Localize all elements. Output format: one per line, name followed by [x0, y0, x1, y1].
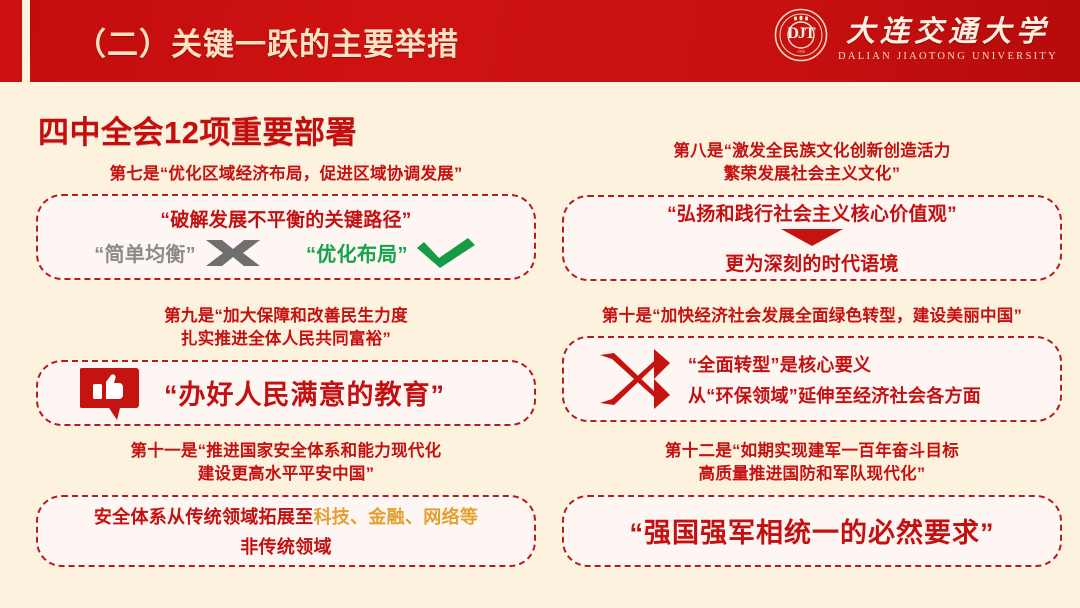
- item-eight-line2: 更为深刻的时代语境: [725, 249, 899, 276]
- item-seven-right-label: “优化布局”: [306, 238, 408, 267]
- item-twelve: 第十二是“如期实现建军一百年奋斗目标 高质量推进国防和军队现代化” “强国强军相…: [562, 440, 1062, 567]
- section-title: 四中全会12项重要部署: [38, 107, 357, 152]
- item-ten: 第十是“加快经济社会发展全面绿色转型，建设美丽中国” “全面转型”是核心要义 从…: [562, 305, 1062, 422]
- item-eleven-lead: 第十一是“推进国家安全体系和能力现代化 建设更高水平平安中国”: [36, 440, 536, 487]
- item-nine: 第九是“加大保障和改善民生力度 扎实推进全体人民共同富裕” “办好人民满意的教育…: [36, 305, 536, 426]
- item-ten-lead: 第十是“加快经济社会发展全面绿色转型，建设美丽中国”: [562, 305, 1062, 328]
- item-eleven-box: 安全体系从传统领域拓展至科技、金融、网络等 非传统领域: [36, 495, 536, 567]
- item-eight-line1: “弘扬和践行社会主义核心价值观”: [667, 199, 957, 226]
- slide-root: （二）关键一跃的主要举措 1956 DJT 大连交通大学 DALIAN JIAO…: [0, 0, 1080, 608]
- item-twelve-text: “强国强军相统一的必然要求”: [630, 511, 995, 550]
- thumbs-up-bubble-icon: [80, 365, 142, 421]
- item-twelve-lead: 第十二是“如期实现建军一百年奋斗目标 高质量推进国防和军队现代化”: [562, 440, 1062, 487]
- university-name-cn: 大连交通大学: [846, 8, 1050, 50]
- cross-x-icon: [202, 236, 264, 270]
- item-eight: 第八是“激发全民族文化创新创造活力 繁荣发展社会主义文化” “弘扬和践行社会主义…: [562, 140, 1062, 281]
- svg-text:1956: 1956: [797, 49, 805, 54]
- item-nine-text: “办好人民满意的教育”: [164, 373, 445, 412]
- item-twelve-box: “强国强军相统一的必然要求”: [562, 495, 1062, 567]
- university-wordmark: 大连交通大学 DALIAN JIAOTONG UNIVERSITY: [838, 8, 1058, 62]
- item-ten-line1: “全面转型”是核心要义: [688, 351, 981, 377]
- item-ten-box: “全面转型”是核心要义 从“环保领域”延伸至经济社会各方面: [562, 336, 1062, 422]
- header-accent-bar: [0, 0, 22, 82]
- item-seven-left-label: “简单均衡”: [94, 238, 196, 267]
- item-eight-box: “弘扬和践行社会主义核心价值观” 更为深刻的时代语境: [562, 195, 1062, 281]
- seal-monogram: DJT: [774, 25, 828, 43]
- shuffle-arrows-icon: [596, 347, 674, 411]
- header-title: （二）关键一跃的主要举措: [75, 19, 459, 64]
- item-eight-lead: 第八是“激发全民族文化创新创造活力 繁荣发展社会主义文化”: [562, 140, 1062, 187]
- university-name-en: DALIAN JIAOTONG UNIVERSITY: [838, 51, 1058, 62]
- item-eleven-line2: 非传统领域: [240, 533, 332, 559]
- item-nine-box: “办好人民满意的教育”: [36, 360, 536, 426]
- item-seven: 第七是“优化区域经济布局，促进区域协调发展” “破解发展不平衡的关键路径” “简…: [36, 163, 536, 280]
- chevron-down-icon: [779, 227, 845, 247]
- checkmark-icon: [414, 236, 478, 270]
- item-seven-headline: “破解发展不平衡的关键路径”: [160, 205, 411, 232]
- university-logo: 1956 DJT 大连交通大学 DALIAN JIAOTONG UNIVERSI…: [774, 8, 1058, 62]
- item-seven-box: “破解发展不平衡的关键路径” “简单均衡” “优化布局”: [36, 194, 536, 280]
- item-eleven-line1-a: 安全体系从传统领域拓展至: [94, 503, 314, 529]
- item-ten-line2: 从“环保领域”延伸至经济社会各方面: [688, 382, 981, 408]
- item-seven-lead: 第七是“优化区域经济布局，促进区域协调发展”: [36, 163, 536, 186]
- item-eleven-line1-highlight: 科技、金融、网络等: [313, 503, 478, 529]
- university-seal-icon: 1956 DJT: [774, 8, 828, 62]
- item-nine-lead: 第九是“加大保障和改善民生力度 扎实推进全体人民共同富裕”: [36, 305, 536, 352]
- item-eleven: 第十一是“推进国家安全体系和能力现代化 建设更高水平平安中国” 安全体系从传统领…: [36, 440, 536, 567]
